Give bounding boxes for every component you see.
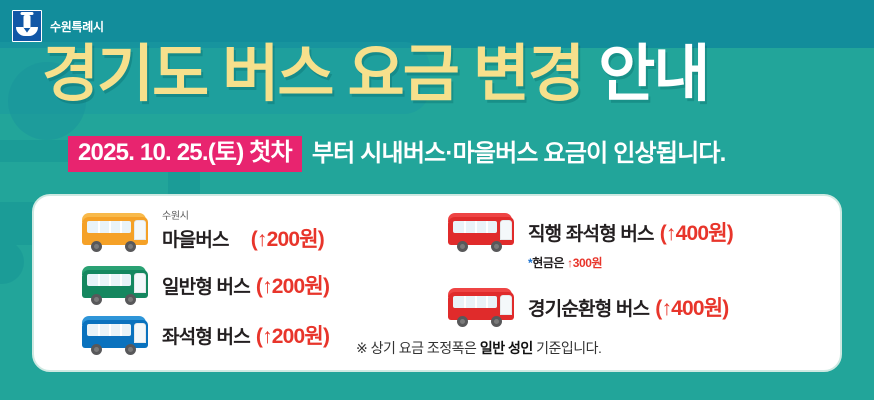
headline-white-text: 안내 [598,40,708,109]
suwon-city-emblem-icon [12,10,42,42]
page-title: 경기도 버스 요금 변경 안내 [42,44,708,106]
headline-yellow-text: 경기도 버스 요금 변경 [42,40,583,109]
fare-note-bold: 일반 성인 [480,340,533,356]
fare-note-suffix: 기준입니다. [533,340,602,356]
fare-column-right: 직행 좌석형 버스 (↑400원) *현금은 ↑300원 [446,204,826,335]
fare-row-name: 마을버스 [162,225,229,252]
fare-note: ※ 상기 요금 조정폭은 일반 성인 기준입니다. [356,338,601,358]
fare-row: 경기순환형 버스 (↑400원) [446,279,826,335]
fare-row-amount: (↑200원) [256,270,329,300]
bus-icon-orange [80,211,152,253]
effective-date-badge: 2025. 10. 25.(토) 첫차 [68,136,302,172]
bus-icon-blue [80,314,152,356]
city-logo: 수원특례시 [12,10,104,42]
fare-change-banner: 수원특례시 경기도 버스 요금 변경 안내 2025. 10. 25.(토) 첫… [0,0,874,400]
fare-row-name: 직행 좌석형 버스 [528,219,654,246]
fare-row-amount: (↑400원) [660,217,733,247]
fare-row: 직행 좌석형 버스 (↑400원) [446,204,826,260]
fare-table-card: 수원시 마을버스 (↑200원) [32,194,842,372]
fare-row: 일반형 버스 (↑200원) [80,260,420,310]
fare-row: 수원시 마을버스 (↑200원) [80,204,420,260]
fare-note-prefix: ※ 상기 요금 조정폭은 [356,340,480,356]
city-name-label: 수원특례시 [50,18,104,35]
bus-icon-green [80,264,152,306]
fare-row-name: 일반형 버스 [162,272,250,299]
fare-row-amount: (↑200원) [251,223,324,253]
fare-row-amount: (↑200원) [256,320,329,350]
fare-row-amount: (↑400원) [655,292,728,322]
effective-date-line: 2025. 10. 25.(토) 첫차 부터 시내버스·마을버스 요금이 인상됩… [68,136,726,172]
fare-row-name: 경기순환형 버스 [528,294,649,321]
footnote-amount: ↑300원 [567,256,602,270]
footnote-text: 현금은 [532,256,567,270]
fare-row-footnote: *현금은 ↑300원 [528,254,826,271]
bus-icon-red [446,286,518,328]
bus-icon-red [446,211,518,253]
fare-row-eyebrow: 수원시 [162,211,324,222]
effective-date-description: 부터 시내버스·마을버스 요금이 인상됩니다. [302,142,726,166]
fare-column-left: 수원시 마을버스 (↑200원) [80,204,420,360]
fare-row-name: 좌석형 버스 [162,322,250,349]
